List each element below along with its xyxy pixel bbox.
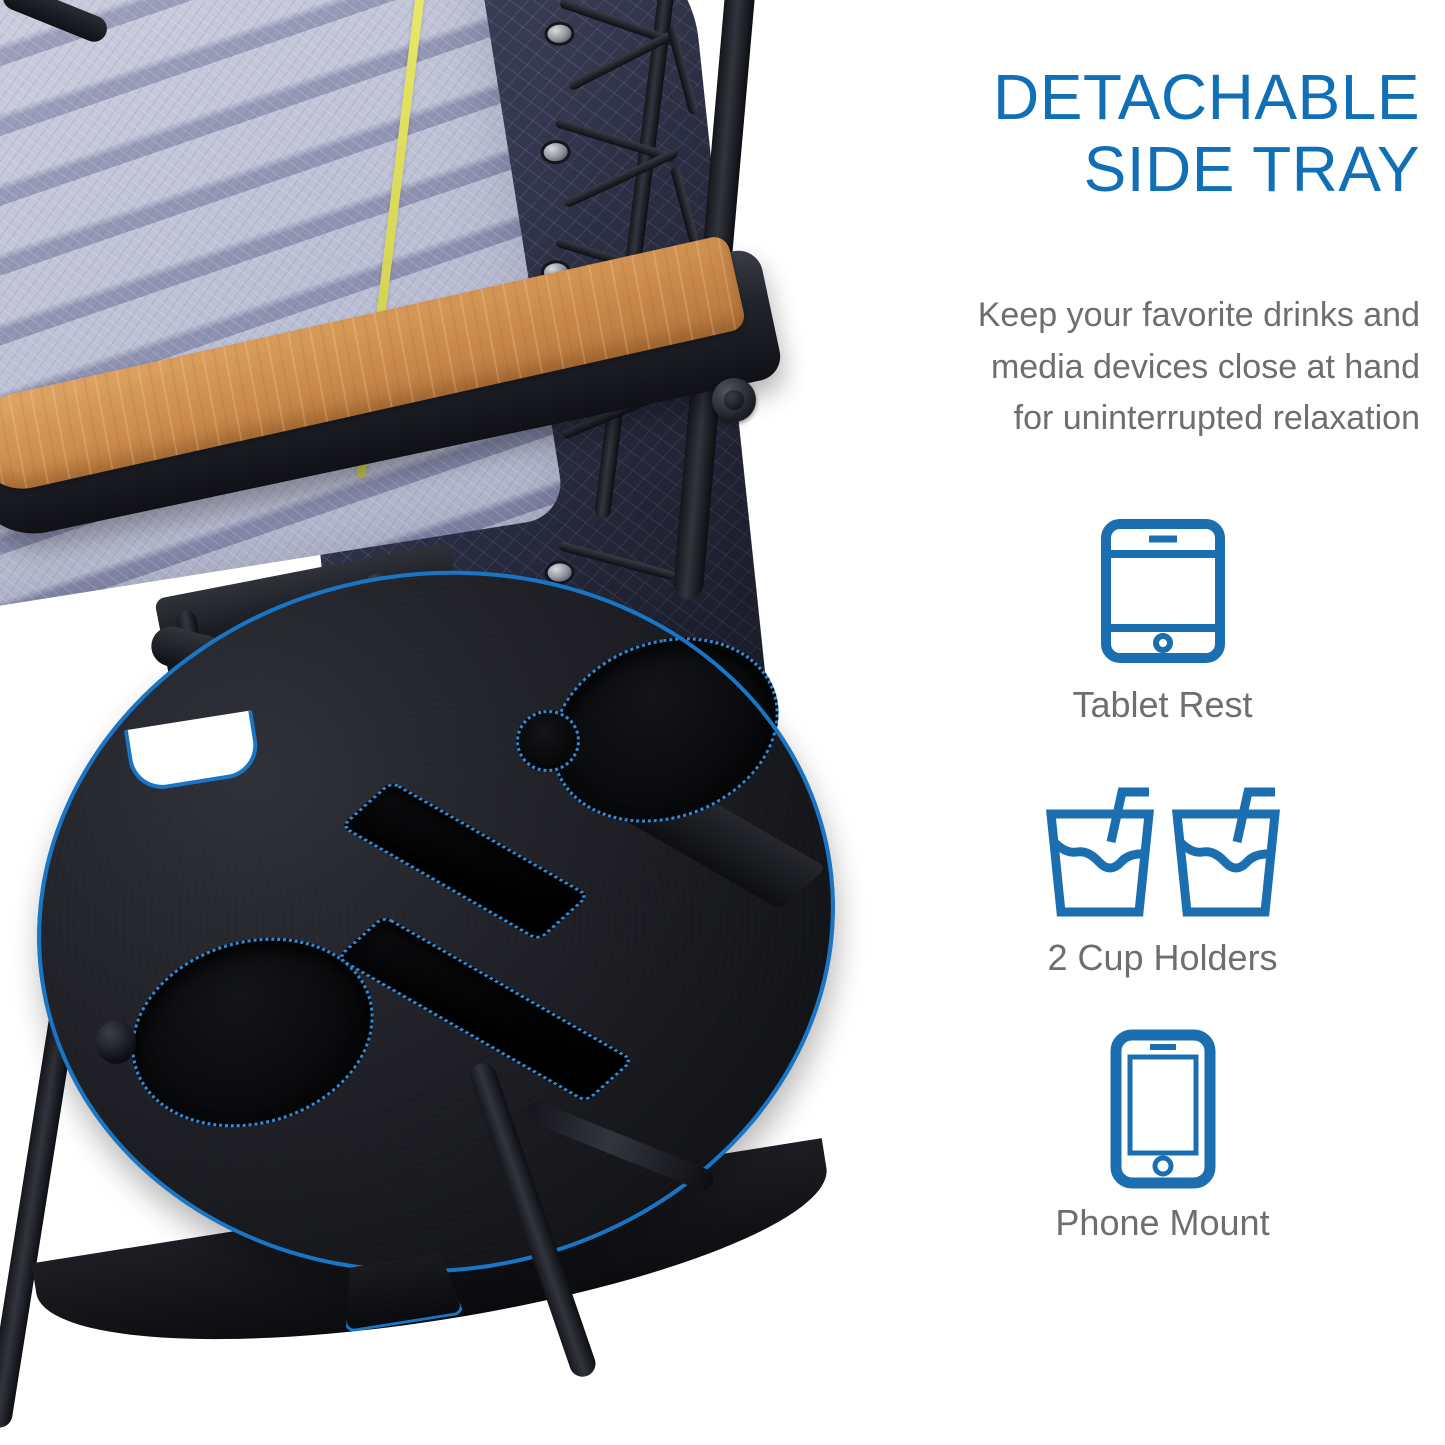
- feature-cup-holders: 2 Cup Holders: [880, 770, 1445, 979]
- feature-tablet-rest: Tablet Rest: [880, 505, 1445, 726]
- feature-label: Tablet Rest: [880, 683, 1445, 726]
- subtitle: Keep your favorite drinks and media devi…: [900, 290, 1420, 445]
- bungee-cord: [567, 29, 678, 91]
- subtitle-line-3: for uninterrupted relaxation: [900, 393, 1420, 445]
- two-cups-icon: [880, 770, 1445, 930]
- feature-label: Phone Mount: [880, 1201, 1445, 1244]
- feature-label: 2 Cup Holders: [880, 936, 1445, 979]
- tray-support-post: [96, 1020, 136, 1064]
- bungee-cord: [667, 26, 699, 115]
- detachable-side-tray: [10, 560, 870, 1120]
- grommet: [547, 24, 572, 43]
- feature-phone-mount: Phone Mount: [880, 1023, 1445, 1244]
- armrest-pivot-knob: [712, 378, 756, 422]
- page-title: DETACHABLE SIDE TRAY: [900, 62, 1420, 205]
- subtitle-line-2: media devices close at hand: [900, 342, 1420, 394]
- product-photo: [0, 0, 880, 1445]
- tablet-icon: [880, 505, 1445, 677]
- product-feature-graphic: DETACHABLE SIDE TRAY Keep your favorite …: [0, 0, 1445, 1445]
- bungee-cord: [563, 148, 679, 209]
- info-panel: DETACHABLE SIDE TRAY Keep your favorite …: [880, 0, 1445, 1445]
- subtitle-line-1: Keep your favorite drinks and: [900, 290, 1420, 342]
- phone-icon: [880, 1023, 1445, 1195]
- headline-line-1: DETACHABLE: [900, 62, 1420, 134]
- feature-list: Tablet Rest 2 Cup Hol: [880, 505, 1445, 1289]
- headline-line-2: SIDE TRAY: [900, 134, 1420, 206]
- grommet: [543, 143, 568, 162]
